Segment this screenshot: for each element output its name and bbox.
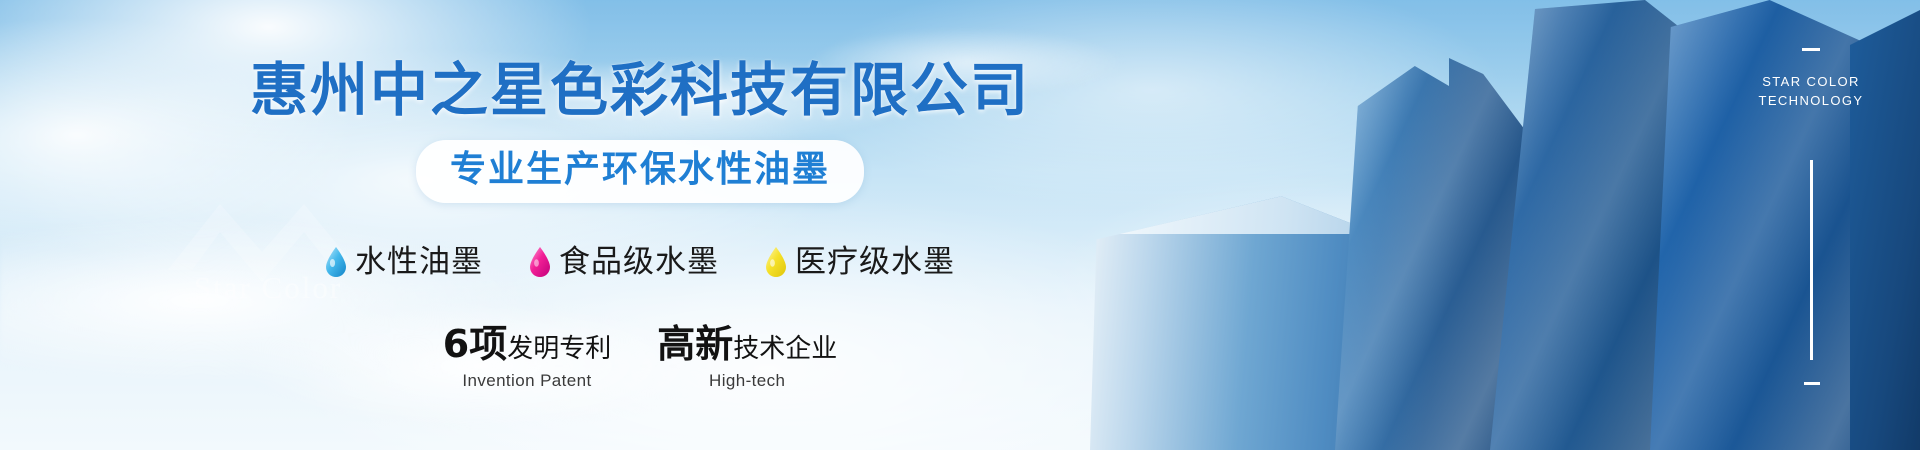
building-brand-label: STAR COLOR TECHNOLOGY xyxy=(1736,72,1886,110)
badge-cn-rest: 技术企业 xyxy=(733,334,837,364)
badge-high-tech: 高新技术企业 High-tech xyxy=(657,326,837,393)
feature-item: 食品级水墨 xyxy=(529,243,719,281)
badge-en-label: High-tech xyxy=(657,369,837,393)
feature-item: 医疗级水墨 xyxy=(765,243,955,281)
droplet-icon xyxy=(529,247,551,277)
banner-content: 惠州中之星色彩科技有限公司 专业生产环保水性油墨 水性油墨 食品级水墨 xyxy=(0,0,1280,450)
badge-en-label: Invention Patent xyxy=(443,369,611,393)
badge-cn-line: 高新技术企业 xyxy=(657,326,837,367)
company-title: 惠州中之星色彩科技有限公司 xyxy=(0,58,1280,122)
droplet-icon xyxy=(325,247,347,277)
badge-cn-line: 6项发明专利 xyxy=(443,326,611,367)
feature-item: 水性油墨 xyxy=(325,243,483,281)
badge-number: 6项 xyxy=(443,322,507,366)
company-banner: Star Color STAR COLOR TECHNOLOGY 惠州中之星色彩… xyxy=(0,0,1920,450)
accent-tick-bottom xyxy=(1804,382,1820,385)
subtitle-pill-wrapper: 专业生产环保水性油墨 xyxy=(0,140,1280,203)
building-brand-line1: STAR COLOR xyxy=(1736,72,1886,91)
tower-far-right xyxy=(1850,0,1920,450)
badge-invention-patent: 6项发明专利 Invention Patent xyxy=(443,326,611,393)
building-brand-line2: TECHNOLOGY xyxy=(1736,91,1886,110)
feature-label: 医疗级水墨 xyxy=(795,243,955,281)
badge-number: 高新 xyxy=(657,322,733,366)
credential-badges: 6项发明专利 Invention Patent 高新技术企业 High-tech xyxy=(0,326,1280,393)
accent-tick-top xyxy=(1802,48,1820,51)
droplet-icon xyxy=(765,247,787,277)
feature-label: 水性油墨 xyxy=(355,243,483,281)
badge-cn-rest: 发明专利 xyxy=(507,334,611,364)
subtitle-pill: 专业生产环保水性油墨 xyxy=(416,140,864,203)
accent-vertical-line xyxy=(1810,160,1813,360)
feature-label: 食品级水墨 xyxy=(559,243,719,281)
feature-list: 水性油墨 食品级水墨 医疗级水墨 xyxy=(0,243,1280,281)
